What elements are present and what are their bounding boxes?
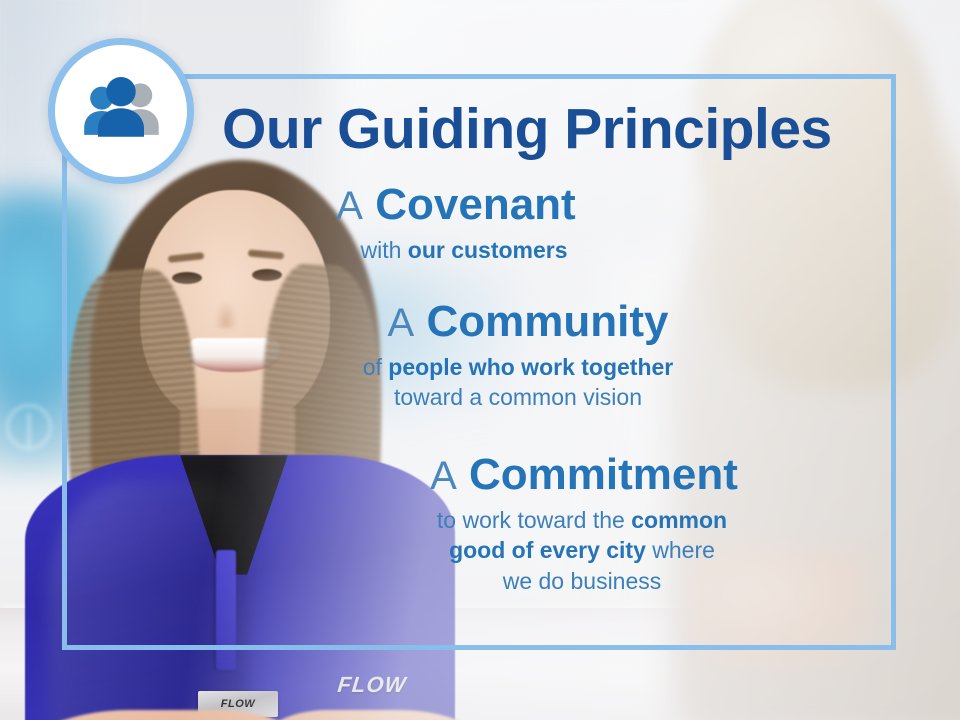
principle-word: Commitment	[469, 450, 738, 499]
page-title: Our Guiding Principles	[222, 96, 882, 162]
principle-community: A Community of people who work together …	[120, 299, 880, 412]
principle-subtext-emphasis: our customers	[408, 237, 568, 263]
principle-subtext-emphasis: people who work together	[388, 354, 673, 380]
principle-word: Community	[426, 297, 668, 346]
principle-subtext-emphasis: common	[631, 507, 727, 533]
people-group-badge	[48, 38, 194, 184]
principle-subtext-line: toward a common vision	[138, 382, 898, 412]
principle-lead: A	[430, 454, 457, 498]
principle-lead: A	[336, 184, 363, 228]
principle-subtext-line: to work toward the common	[202, 505, 960, 535]
principle-subtext-part: with	[360, 237, 407, 263]
principle-subtext-line: of people who work together	[138, 352, 898, 382]
guiding-principles-graphic: FLOW FLOW Our Guiding Principles	[0, 0, 960, 720]
principle-subtext: with our customers	[84, 235, 844, 265]
principle-heading: A Commitment	[204, 452, 960, 499]
principle-heading: A Covenant	[76, 182, 836, 229]
principle-subtext: of people who work together toward a com…	[138, 352, 898, 413]
principle-subtext-part: where	[646, 537, 715, 563]
principle-covenant: A Covenant with our customers	[120, 182, 880, 265]
chest-logo: FLOW	[328, 670, 415, 700]
principle-lead: A	[388, 301, 415, 345]
principle-heading: A Community	[148, 299, 908, 346]
principle-commitment: A Commitment to work toward the common g…	[120, 452, 880, 596]
principle-subtext-part: to work toward the	[437, 507, 631, 533]
principle-word: Covenant	[375, 180, 575, 229]
people-group-icon	[75, 65, 167, 157]
principle-subtext: to work toward the common good of every …	[202, 505, 960, 596]
principle-subtext-emphasis: good of every city	[449, 537, 646, 563]
principle-subtext-line: we do business	[202, 566, 960, 596]
principles-list: A Covenant with our customers A Communit…	[120, 182, 880, 610]
principle-subtext-line: good of every city where	[202, 535, 960, 565]
principle-subtext-part: of	[363, 354, 389, 380]
